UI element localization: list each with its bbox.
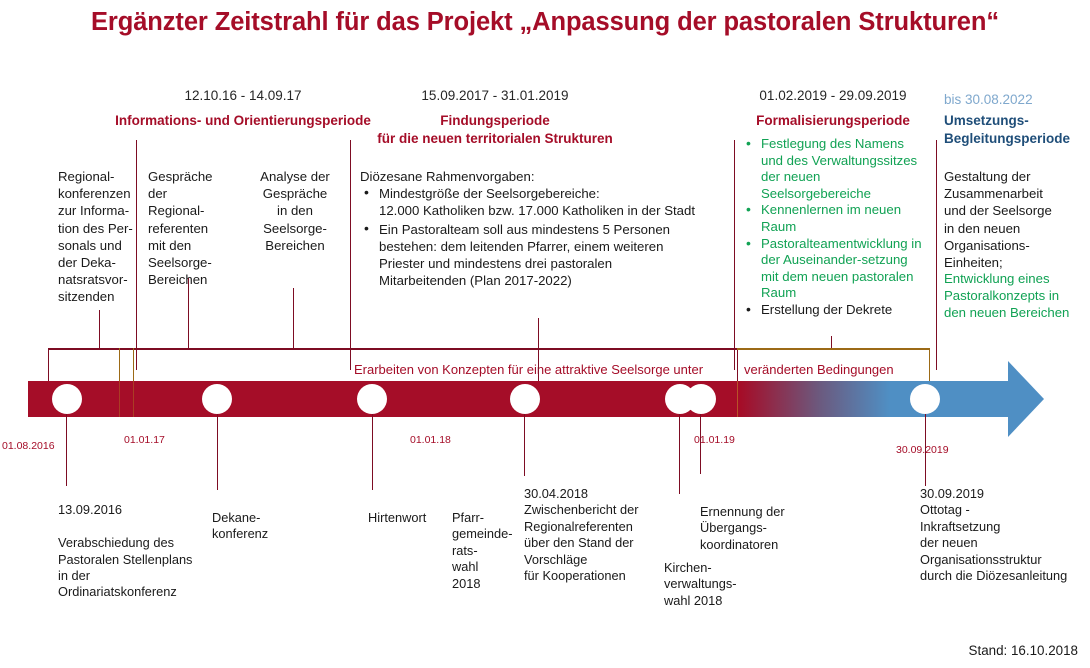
leader-line-1 (66, 414, 67, 486)
formal-bullet-3: Pastoralteamentwicklung in der Auseinand… (742, 236, 924, 302)
umsetzung-text-black: Gestaltung der Zusammenarbeit und der Se… (944, 168, 1090, 271)
event-zwischenbericht-text: Zwischenbericht der Regionalreferenten ü… (524, 502, 660, 584)
timeline-arrow-head (1008, 361, 1044, 437)
event-pfarrgemeinderatswahl: Pfarr- gemeinde- rats- wahl 2018 (452, 510, 518, 592)
event-ottotag-text: Ottotag - Inkraftsetzung der neuen Organ… (920, 502, 1090, 584)
bracket-caption-right: veränderten Bedingungen (744, 362, 894, 377)
formal-bullet-1: Festlegung des Namens und des Verwaltung… (742, 136, 924, 202)
bracket-horizontal-left (48, 348, 738, 350)
period-4-name-line1: Umsetzungs- (944, 112, 1090, 129)
column-regionalkonferenzen: Regional- konferenzen zur Informa- tion … (58, 168, 146, 306)
event-verabschiedung: 13.09.2016 Verabschiedung des Pastoralen… (58, 486, 228, 617)
bracket-mid-left (737, 348, 738, 382)
event-ottotag: 30.09.2019 Ottotag - Inkraftsetzung der … (920, 486, 1090, 584)
page-title: Ergänzter Zeitstrahl für das Projekt „An… (0, 8, 1090, 37)
milestone-node-4[interactable] (510, 384, 540, 414)
event-ernennung-koordinatoren: Ernennung der Übergangs- koordinatoren (700, 504, 820, 553)
drop-line-col3 (293, 288, 294, 348)
drop-line-col1 (99, 310, 100, 348)
findungsperiode-content: Diözesane Rahmenvorgaben: Mindestgröße d… (360, 168, 730, 289)
period-2-date: 15.09.2017 - 31.01.2019 (345, 88, 645, 103)
event-dekanekonferenz: Dekane- konferenz (212, 510, 304, 543)
period-3-date: 01.02.2019 - 29.09.2019 (718, 88, 948, 103)
axis-tick-1: 01.01.17 (124, 434, 165, 446)
period-4-date: bis 30.08.2022 (944, 92, 1084, 107)
leader-line-3 (372, 414, 373, 490)
period-3-name: Formalisierungsperiode (718, 112, 948, 129)
findung-bullet-2: Ein Pastoralteam soll aus mindestens 5 P… (360, 221, 730, 290)
event-zwischenbericht: 30.04.2018 Zwischenbericht der Regionalr… (524, 486, 660, 584)
leader-line-2 (217, 414, 218, 490)
event-kirchenverwaltungswahl: Kirchen- verwaltungs- wahl 2018 (664, 560, 774, 609)
footer-stand: Stand: 16.10.2018 (969, 643, 1078, 658)
ochre-tick-1 (119, 348, 120, 382)
axis-tick-2: 01.01.18 (410, 434, 451, 446)
timeline-diagram: Ergänzter Zeitstrahl für das Projekt „An… (0, 0, 1090, 668)
leader-line-6 (700, 414, 701, 474)
bar-ochre-line-1 (119, 381, 120, 417)
milestone-node-2[interactable] (202, 384, 232, 414)
period-divider-2 (350, 140, 351, 370)
bracket-end-right (929, 348, 930, 382)
milestone-node-6[interactable] (686, 384, 716, 414)
bracket-caption-left: Erarbeiten von Konzepten für eine attrak… (354, 362, 703, 377)
findung-bullet-1: Mindestgröße der Seelsorgebereiche: 12.0… (360, 185, 730, 219)
period-divider-1 (136, 140, 137, 370)
milestone-node-1[interactable] (52, 384, 82, 414)
event-zwischenbericht-date: 30.04.2018 (524, 486, 660, 502)
formalisierungsperiode-content: Festlegung des Namens und des Verwaltung… (742, 136, 924, 319)
umsetzung-text-green: Entwicklung eines Pastoralkonzepts in de… (944, 270, 1090, 322)
findung-bullet-list: Mindestgröße der Seelsorgebereiche: 12.0… (360, 185, 730, 289)
column-analyse-gespraeche: Analyse der Gespräche in den Seelsorge- … (245, 168, 345, 254)
axis-tick-0: 01.08.2016 (2, 440, 55, 452)
event-verabschiedung-text: Verabschiedung des Pastoralen Stellenpla… (58, 535, 228, 601)
period-2-name-line1: Findungsperiode (345, 112, 645, 129)
event-verabschiedung-date: 13.09.2016 (58, 502, 228, 518)
period-2-name-line2: für die neuen territorialen Strukturen (330, 130, 660, 147)
leader-line-7 (925, 414, 926, 486)
period-divider-3 (734, 140, 735, 370)
drop-line-col2 (188, 278, 189, 348)
formal-bullet-4: Erstellung der Dekrete (742, 302, 924, 319)
period-divider-4 (936, 140, 937, 370)
formal-bullet-list: Festlegung des Namens und des Verwaltung… (742, 136, 924, 319)
drop-line-formal (831, 336, 832, 348)
column-gespraeche-regionalreferenten: Gespräche der Regional- referenten mit d… (148, 168, 232, 288)
milestone-node-7[interactable] (910, 384, 940, 414)
event-ottotag-date: 30.09.2019 (920, 486, 1090, 502)
period-4-name-line2: Begleitungsperiode (944, 130, 1090, 147)
ochre-tick-2 (133, 348, 134, 382)
leader-line-4 (524, 414, 525, 476)
bracket-horizontal-right (737, 348, 930, 350)
bar-ochre-line-3 (737, 381, 738, 417)
event-hirtenwort: Hirtenwort (368, 510, 454, 526)
axis-tick-4: 30.09.2019 (896, 444, 949, 456)
drop-line-findung (538, 318, 539, 382)
bracket-end-left (48, 348, 49, 382)
findung-intro: Diözesane Rahmenvorgaben: (360, 168, 730, 185)
leader-line-5 (679, 414, 680, 494)
milestone-node-3[interactable] (357, 384, 387, 414)
formal-bullet-2: Kennenlernen im neuen Raum (742, 202, 924, 235)
bar-ochre-line-2 (133, 381, 134, 417)
period-1-date: 12.10.16 - 14.09.17 (108, 88, 378, 103)
